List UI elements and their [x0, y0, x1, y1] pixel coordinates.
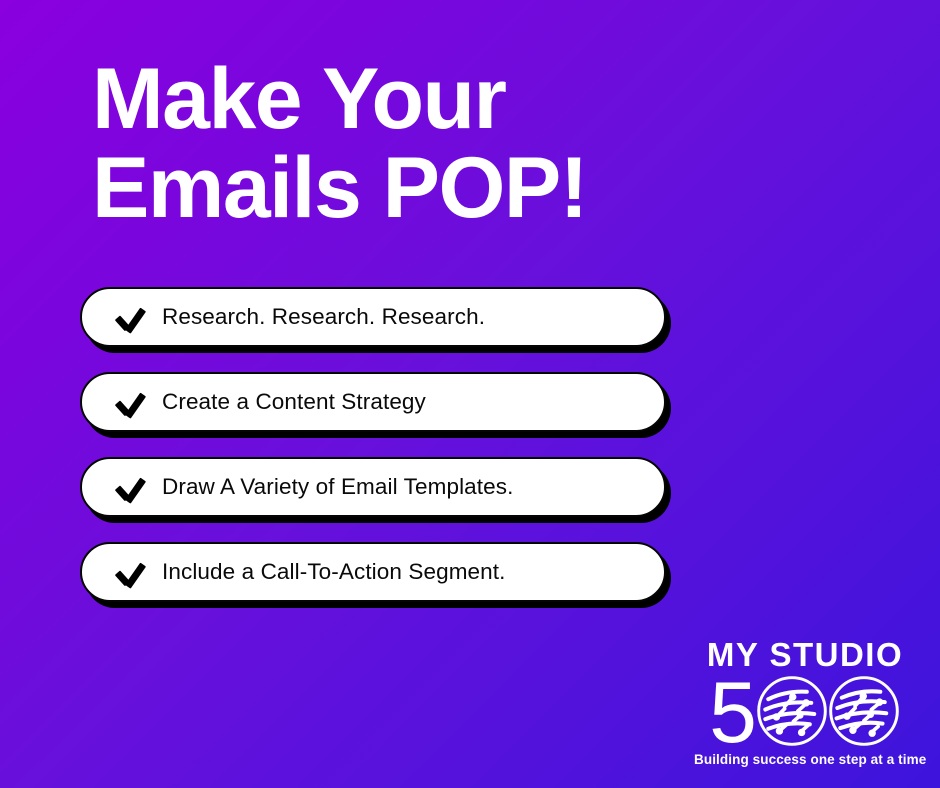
brand-logo: MY STUDIO 5 [694, 638, 916, 767]
list-item[interactable]: Research. Research. Research. [80, 287, 666, 347]
list-item-label: Include a Call-To-Action Segment. [162, 559, 505, 585]
list-item-label: Draw A Variety of Email Templates. [162, 474, 513, 500]
poster-canvas: Make Your Emails POP! Research. Research… [0, 0, 940, 788]
headline-line-2: Emails POP! [92, 147, 792, 230]
logo-numeral-five: 5 [709, 670, 755, 756]
page-title: Make Your Emails POP! [92, 58, 792, 229]
check-mark-icon [116, 306, 146, 336]
circuit-circle-icon [827, 674, 901, 748]
list-item-label: Research. Research. Research. [162, 304, 485, 330]
list-item[interactable]: Include a Call-To-Action Segment. [80, 542, 666, 602]
check-mark-icon [116, 476, 146, 506]
check-mark-icon [116, 391, 146, 421]
logo-mark: 5 [694, 673, 916, 749]
headline-line-1: Make Your [92, 58, 792, 141]
list-item[interactable]: Create a Content Strategy [80, 372, 666, 432]
checklist: Research. Research. Research. Create a C… [80, 287, 680, 602]
list-item-label: Create a Content Strategy [162, 389, 426, 415]
check-mark-icon [116, 561, 146, 591]
circuit-circle-icon [755, 674, 829, 748]
list-item[interactable]: Draw A Variety of Email Templates. [80, 457, 666, 517]
